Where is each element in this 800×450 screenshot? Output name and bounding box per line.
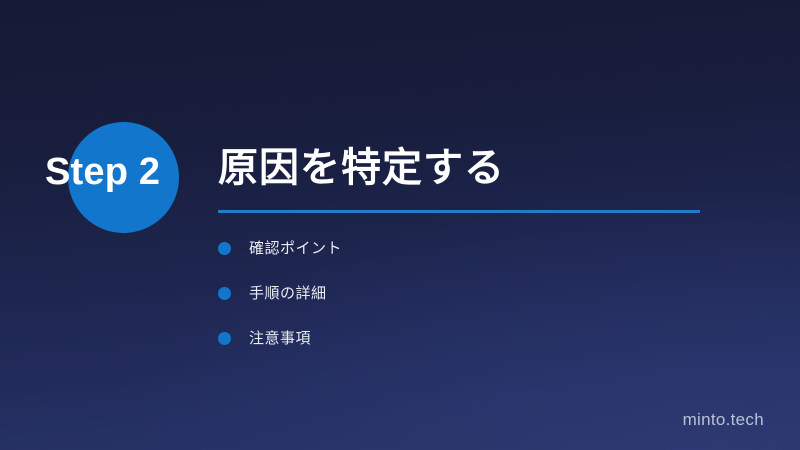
list-item: 手順の詳細 (218, 281, 342, 306)
list-item-label: 手順の詳細 (249, 286, 327, 301)
list-item: 注意事項 (218, 326, 342, 351)
bullet-dot-icon (218, 287, 231, 300)
title-underline-rule (218, 210, 700, 213)
slide-canvas: Step 2 原因を特定する 確認ポイント 手順の詳細 注意事項 minto.t… (0, 0, 800, 450)
bullet-dot-icon (218, 242, 231, 255)
page-title: 原因を特定する (218, 148, 505, 188)
step-label: Step 2 (45, 153, 160, 191)
list-item-label: 確認ポイント (249, 241, 342, 256)
footer-brand: minto.tech (683, 411, 764, 428)
bullet-dot-icon (218, 332, 231, 345)
list-item: 確認ポイント (218, 236, 342, 261)
bullet-list: 確認ポイント 手順の詳細 注意事項 (218, 236, 342, 371)
list-item-label: 注意事項 (249, 331, 311, 346)
